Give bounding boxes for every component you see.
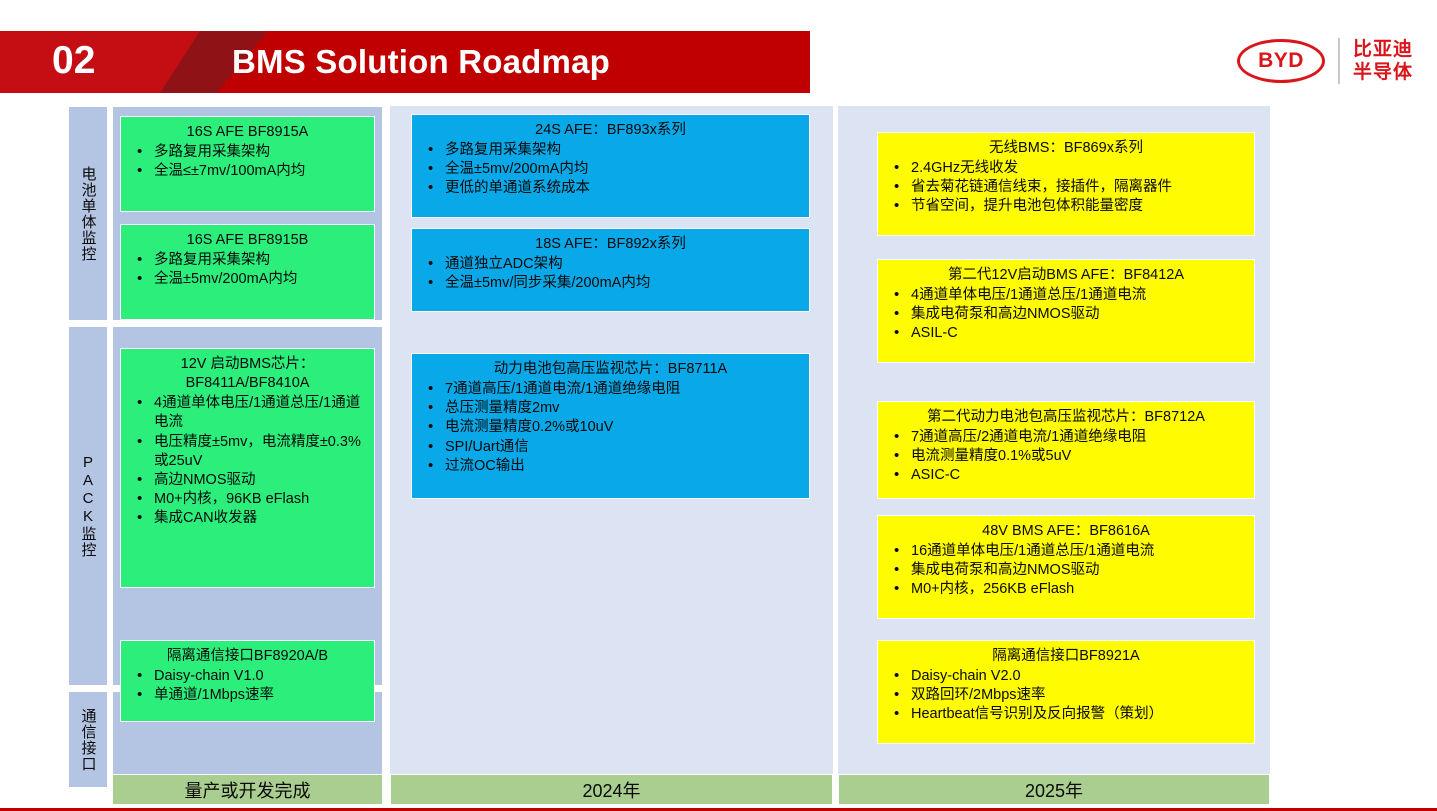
card-bf892x[interactable]: 18S AFE：BF892x系列 通道独立ADC架构 全温±5mv/同步采集/2…: [411, 228, 810, 312]
card-bullet: 高边NMOS驱动: [135, 471, 366, 490]
row-label-text: 通信接口: [78, 708, 99, 772]
logo-line-1: 比亚迪: [1353, 39, 1413, 60]
logo-chinese-name: 比亚迪 半导体: [1353, 39, 1413, 84]
card-bullet: 全温±5mv/200mA内均: [135, 270, 366, 289]
card-bf8915b[interactable]: 16S AFE BF8915B 多路复用采集架构 全温±5mv/200mA内均: [120, 224, 375, 320]
card-bullet: Daisy-chain V2.0: [892, 667, 1246, 686]
card-bullets: 7通道高压/1通道电流/1通道绝缘电阻 总压测量精度2mv 电流测量精度0.2%…: [420, 380, 801, 476]
card-bullet: 单通道/1Mbps速率: [135, 686, 366, 705]
card-bullet: 7通道高压/2通道电流/1通道绝缘电阻: [892, 428, 1246, 447]
card-bullet: 集成电荷泵和高边NMOS驱动: [892, 561, 1246, 580]
card-bullets: 2.4GHz无线收发 省去菊花链通信线束，接插件，隔离器件 节省空间，提升电池包…: [886, 159, 1246, 216]
card-bf893x[interactable]: 24S AFE：BF893x系列 多路复用采集架构 全温±5mv/200mA内均…: [411, 114, 810, 218]
row-label-text: PACK监控: [78, 454, 99, 558]
logo-line-2: 半导体: [1353, 62, 1413, 83]
card-title: 无线BMS：BF869x系列: [886, 139, 1246, 158]
card-bullets: 4通道单体电压/1通道总压/1通道电流 电压精度±5mv，电流精度±0.3%或2…: [129, 394, 366, 528]
card-bullet: M0+内核，96KB eFlash: [135, 490, 366, 509]
card-bullet: 全温±5mv/同步采集/200mA内均: [426, 274, 801, 293]
roadmap-grid: 电池单体监控 PACK监控 通信接口 16S AFE BF8915A 多路复用采…: [0, 102, 1437, 811]
card-title: 12V 启动BMS芯片： BF8411A/BF8410A: [129, 355, 366, 393]
card-bullet: 16通道单体电压/1通道总压/1通道电流: [892, 542, 1246, 561]
card-bullet: 全温≤±7mv/100mA内均: [135, 162, 366, 181]
card-bullet: SPI/Uart通信: [426, 438, 801, 457]
card-bullet: 电压精度±5mv，电流精度±0.3%或25uV: [135, 433, 366, 471]
card-bullets: Daisy-chain V1.0 单通道/1Mbps速率: [129, 667, 366, 705]
slide-header: 02 BMS Solution Roadmap: [0, 31, 1437, 93]
card-title: 24S AFE：BF893x系列: [420, 121, 801, 140]
card-bullets: 多路复用采集架构 全温≤±7mv/100mA内均: [129, 143, 366, 181]
card-bullet: ASIC-C: [892, 466, 1246, 485]
card-title: 48V BMS AFE：BF8616A: [886, 522, 1246, 541]
card-bullets: 7通道高压/2通道电流/1通道绝缘电阻 电流测量精度0.1%或5uV ASIC-…: [886, 428, 1246, 485]
card-bullet: 通道独立ADC架构: [426, 255, 801, 274]
timeline-text: 2025年: [1025, 777, 1083, 803]
row-label-comm-interface: 通信接口: [68, 691, 108, 788]
timeline-text: 2024年: [582, 777, 640, 803]
timeline-label-completed: 量产或开发完成: [112, 774, 383, 805]
card-bullet: 集成电荷泵和高边NMOS驱动: [892, 305, 1246, 324]
card-bullets: 16通道单体电压/1通道总压/1通道电流 集成电荷泵和高边NMOS驱动 M0+内…: [886, 542, 1246, 599]
card-bullet: 2.4GHz无线收发: [892, 159, 1246, 178]
byd-wordmark: BYD: [1258, 49, 1304, 73]
row-label-cell-monitoring: 电池单体监控: [68, 106, 108, 321]
card-bullet: 更低的单通道系统成本: [426, 179, 801, 198]
section-number: 02: [52, 31, 95, 93]
card-bullet: Daisy-chain V1.0: [135, 667, 366, 686]
card-bf869x[interactable]: 无线BMS：BF869x系列 2.4GHz无线收发 省去菊花链通信线束，接插件，…: [877, 132, 1255, 236]
card-bullet: 过流OC输出: [426, 457, 801, 476]
card-bullets: 通道独立ADC架构 全温±5mv/同步采集/200mA内均: [420, 255, 801, 293]
card-bullet: 多路复用采集架构: [135, 251, 366, 270]
card-bf8920a-b[interactable]: 隔离通信接口BF8920A/B Daisy-chain V1.0 单通道/1Mb…: [120, 640, 375, 722]
card-bullet: 省去菊花链通信线束，接插件，隔离器件: [892, 178, 1246, 197]
card-title: 第二代12V启动BMS AFE：BF8412A: [886, 266, 1246, 285]
card-bf8711a[interactable]: 动力电池包高压监视芯片：BF8711A 7通道高压/1通道电流/1通道绝缘电阻 …: [411, 353, 810, 499]
byd-logo: BYD 比亚迪 半导体: [1237, 30, 1413, 92]
card-bullet: 多路复用采集架构: [426, 141, 801, 160]
logo-divider: [1338, 38, 1340, 84]
card-bf8915a[interactable]: 16S AFE BF8915A 多路复用采集架构 全温≤±7mv/100mA内均: [120, 116, 375, 212]
card-bullets: 多路复用采集架构 全温±5mv/200mA内均: [129, 251, 366, 289]
card-bullet: 总压测量精度2mv: [426, 399, 801, 418]
card-bullet: 多路复用采集架构: [135, 143, 366, 162]
timeline-text: 量产或开发完成: [185, 777, 311, 803]
card-bf8616a[interactable]: 48V BMS AFE：BF8616A 16通道单体电压/1通道总压/1通道电流…: [877, 515, 1255, 619]
card-bullet: 7通道高压/1通道电流/1通道绝缘电阻: [426, 380, 801, 399]
card-bullet: 集成CAN收发器: [135, 509, 366, 528]
card-title: 第二代动力电池包高压监视芯片：BF8712A: [886, 408, 1246, 427]
card-title: 动力电池包高压监视芯片：BF8711A: [420, 360, 801, 379]
card-bf8921a[interactable]: 隔离通信接口BF8921A Daisy-chain V2.0 双路回环/2Mbp…: [877, 640, 1255, 744]
card-bullets: 4通道单体电压/1通道总压/1通道电流 集成电荷泵和高边NMOS驱动 ASIL-…: [886, 286, 1246, 343]
card-title: 隔离通信接口BF8920A/B: [129, 647, 366, 666]
card-bullet: 4通道单体电压/1通道总压/1通道电流: [135, 394, 366, 432]
card-bullet: M0+内核，256KB eFlash: [892, 580, 1246, 599]
byd-oval-icon: BYD: [1237, 39, 1325, 83]
card-title: 16S AFE BF8915A: [129, 123, 366, 142]
card-bullet: 电流测量精度0.2%或10uV: [426, 418, 801, 437]
card-bf8712a[interactable]: 第二代动力电池包高压监视芯片：BF8712A 7通道高压/2通道电流/1通道绝缘…: [877, 401, 1255, 499]
card-bullet: 节省空间，提升电池包体积能量密度: [892, 197, 1246, 216]
row-label-text: 电池单体监控: [78, 166, 99, 262]
card-bf8412a[interactable]: 第二代12V启动BMS AFE：BF8412A 4通道单体电压/1通道总压/1通…: [877, 259, 1255, 363]
row-label-pack-monitoring: PACK监控: [68, 326, 108, 686]
card-bullets: 多路复用采集架构 全温±5mv/200mA内均 更低的单通道系统成本: [420, 141, 801, 198]
slide-root: 02 BMS Solution Roadmap BYD 比亚迪 半导体 电池单体…: [0, 0, 1437, 811]
card-title: 16S AFE BF8915B: [129, 231, 366, 250]
card-title: 18S AFE：BF892x系列: [420, 235, 801, 254]
card-bullets: Daisy-chain V2.0 双路回环/2Mbps速率 Heartbeat信…: [886, 667, 1246, 724]
page-title: BMS Solution Roadmap: [232, 31, 610, 93]
card-bullet: Heartbeat信号识别及反向报警（策划）: [892, 705, 1246, 724]
card-bullet: 全温±5mv/200mA内均: [426, 160, 801, 179]
card-bullet: 4通道单体电压/1通道总压/1通道电流: [892, 286, 1246, 305]
card-title: 隔离通信接口BF8921A: [886, 647, 1246, 666]
card-bf8411a-bf8410a[interactable]: 12V 启动BMS芯片： BF8411A/BF8410A 4通道单体电压/1通道…: [120, 348, 375, 588]
timeline-label-2024: 2024年: [390, 774, 833, 805]
card-bullet: 双路回环/2Mbps速率: [892, 686, 1246, 705]
timeline-label-2025: 2025年: [838, 774, 1270, 805]
card-bullet: 电流测量精度0.1%或5uV: [892, 447, 1246, 466]
card-bullet: ASIL-C: [892, 324, 1246, 343]
